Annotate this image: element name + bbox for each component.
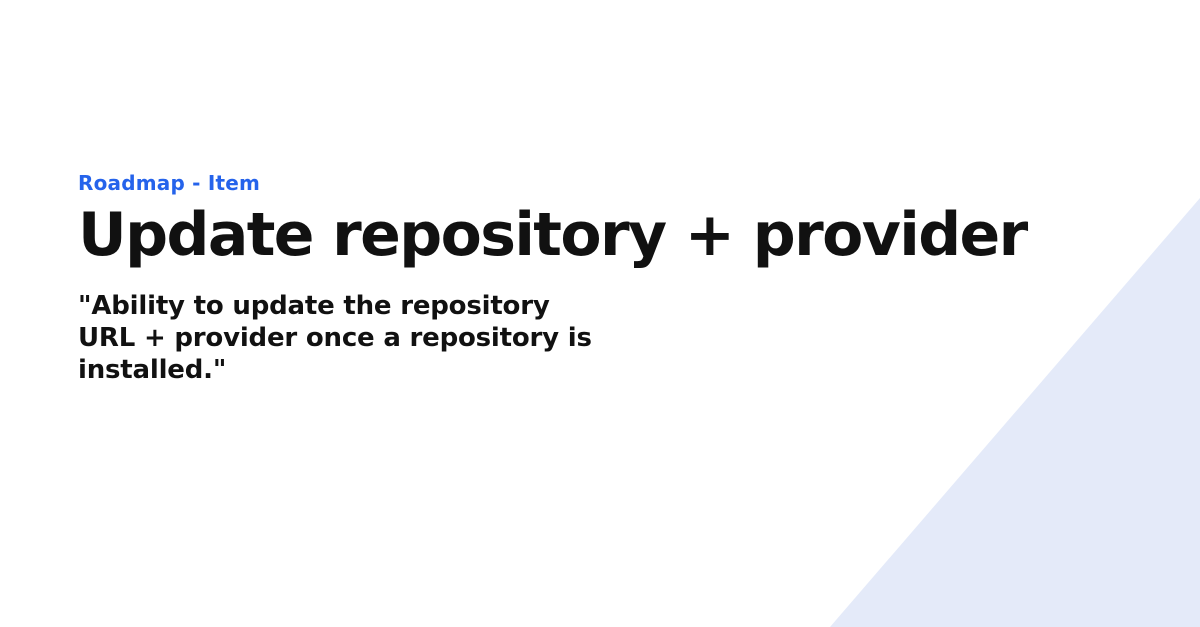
item-description-quote: "Ability to update the repository URL + … [78,290,644,386]
page-title: Update repository + provider [78,204,998,268]
roadmap-item-card: Roadmap - Item Update repository + provi… [0,0,1200,627]
breadcrumb-eyebrow: Roadmap - Item [78,172,998,195]
card-content: Roadmap - Item Update repository + provi… [78,172,998,386]
